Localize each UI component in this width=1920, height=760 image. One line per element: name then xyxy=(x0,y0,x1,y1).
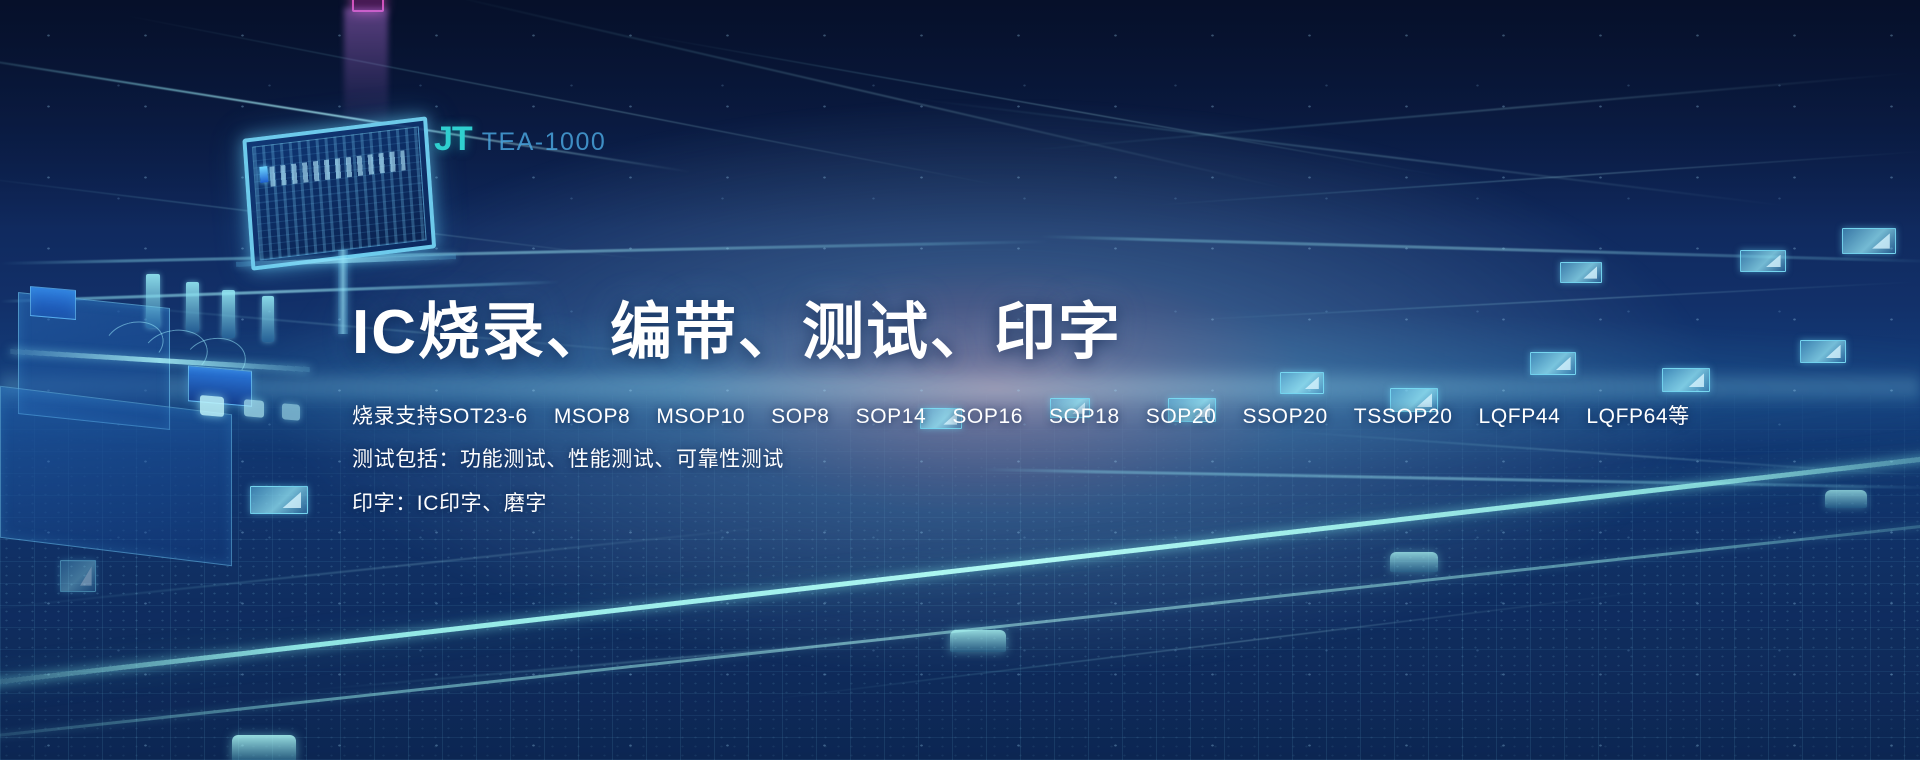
operator-monitor xyxy=(242,117,427,263)
workstation-tray xyxy=(60,560,96,592)
light-streak xyxy=(760,590,1653,701)
rail-foot xyxy=(950,630,1006,652)
monitor-bezel xyxy=(242,116,436,271)
marking-scope-line: 印字：IC印字、磨字 xyxy=(352,488,1690,520)
workstation-tray xyxy=(250,486,308,514)
structural-shelf xyxy=(1040,235,1920,263)
fixture-light-beam xyxy=(344,8,388,128)
machinery-panel xyxy=(30,286,76,320)
light-streak xyxy=(1150,151,1920,206)
banner-headline: IC烧录、编带、测试、印字 xyxy=(352,300,1690,367)
rail-foot xyxy=(1825,490,1867,508)
hero-banner: JT TEA-1000 IC烧录、编带、测试、印字 烧录支持SOT23-6 MS… xyxy=(0,0,1920,760)
monitor-screen xyxy=(252,126,427,260)
package-sop8: SOP8 xyxy=(771,401,829,433)
package-msop8: MSOP8 xyxy=(554,401,631,433)
package-sop18: SOP18 xyxy=(1049,401,1120,433)
package-lqfp64: LQFP64等 xyxy=(1586,401,1689,433)
light-streak xyxy=(430,0,1288,190)
package-sop16: SOP16 xyxy=(952,401,1023,433)
light-streak xyxy=(640,34,1448,177)
rail-foot xyxy=(232,735,296,760)
brand-mark-jt: JT xyxy=(434,122,472,156)
machine-arm xyxy=(262,296,274,342)
package-list: MSOP8 MSOP10 SOP8 SOP14 SOP16 SOP18 SOP2… xyxy=(554,401,1690,433)
burn-support-line: 烧录支持SOT23-6 MSOP8 MSOP10 SOP8 SOP14 SOP1… xyxy=(352,401,1690,433)
package-ssop20: SSOP20 xyxy=(1242,401,1327,433)
package-sop14: SOP14 xyxy=(856,401,927,433)
package-lqfp44: LQFP44 xyxy=(1479,401,1561,433)
rail-foot xyxy=(1390,552,1438,572)
machine-arm xyxy=(222,290,235,338)
banner-subtitles: 烧录支持SOT23-6 MSOP8 MSOP10 SOP8 SOP14 SOP1… xyxy=(352,401,1690,520)
machine-arm xyxy=(186,282,199,332)
test-scope-line: 测试包括：功能测试、性能测试、可靠性测试 xyxy=(352,444,1690,476)
machinery-base xyxy=(0,386,232,566)
machine-arm xyxy=(146,274,160,328)
conveyor-rail-secondary xyxy=(0,510,1920,745)
machine-nozzle xyxy=(200,395,224,417)
package-tssop20: TSSOP20 xyxy=(1354,401,1453,433)
brand-model-tea: TEA-1000 xyxy=(482,130,607,155)
package-sop20: SOP20 xyxy=(1146,401,1217,433)
machine-nozzle xyxy=(282,403,300,421)
monitor-status-led xyxy=(259,166,268,183)
workstation-tray xyxy=(1560,262,1602,283)
banner-content: IC烧录、编带、测试、印字 烧录支持SOT23-6 MSOP8 MSOP10 S… xyxy=(352,300,1690,519)
light-streak xyxy=(1020,72,1917,152)
workstation-tray xyxy=(1740,250,1786,272)
machine-nozzle xyxy=(244,399,264,418)
package-msop10: MSOP10 xyxy=(656,401,745,433)
burn-support-lead: 烧录支持SOT23-6 xyxy=(352,405,528,428)
brand-watermark: JT TEA-1000 xyxy=(434,122,606,156)
workstation-tray xyxy=(1800,340,1846,363)
workstation-tray xyxy=(1842,228,1896,254)
